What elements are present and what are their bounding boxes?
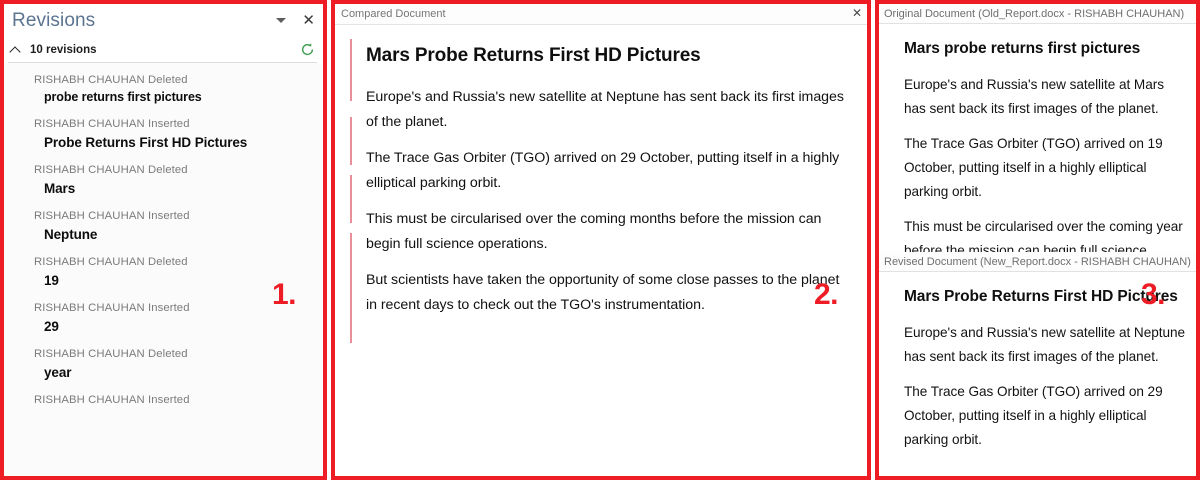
revised-document-label: Revised Document (New_Report.docx - RISH… bbox=[884, 256, 1191, 268]
source-documents-panel: Original Document (Old_Report.docx - RIS… bbox=[875, 0, 1200, 480]
revision-author: RISHABH CHAUHAN Deleted bbox=[34, 346, 313, 362]
revision-author: RISHABH CHAUHAN Inserted bbox=[34, 116, 313, 132]
revised-document-header: Revised Document (New_Report.docx - RISH… bbox=[879, 252, 1196, 272]
revision-item[interactable]: RISHABH CHAUHAN Deletedprobe returns fir… bbox=[4, 72, 323, 107]
original-paragraph: Europe's and Russia's new satellite at M… bbox=[904, 73, 1186, 121]
revised-document-body[interactable]: Mars Probe Returns First HD Pictures Eur… bbox=[879, 272, 1196, 476]
revised-document-section: Revised Document (New_Report.docx - RISH… bbox=[879, 252, 1196, 476]
compared-paragraph: This must be circularised over the comin… bbox=[366, 207, 845, 257]
revision-text: 29 bbox=[34, 316, 313, 337]
original-document-header: Original Document (Old_Report.docx - RIS… bbox=[879, 4, 1196, 24]
revision-author: RISHABH CHAUHAN Deleted bbox=[34, 72, 313, 88]
revised-paragraph: Europe's and Russia's new satellite at N… bbox=[904, 321, 1186, 369]
revision-text: year bbox=[34, 362, 313, 383]
revision-item[interactable]: RISHABH CHAUHAN InsertedProbe Returns Fi… bbox=[4, 116, 323, 153]
revision-item[interactable]: RISHABH CHAUHAN InsertedNeptune bbox=[4, 208, 323, 245]
original-paragraph: This must be circularised over the comin… bbox=[904, 215, 1186, 252]
original-paragraph-list: Europe's and Russia's new satellite at M… bbox=[904, 73, 1186, 252]
revisions-list[interactable]: RISHABH CHAUHAN Deletedprobe returns fir… bbox=[4, 63, 323, 476]
revision-text: probe returns first pictures bbox=[34, 88, 313, 107]
original-heading: Mars probe returns first pictures bbox=[904, 36, 1186, 61]
revisions-count-label: 10 revisions bbox=[30, 44, 96, 56]
original-paragraph: The Trace Gas Orbiter (TGO) arrived on 1… bbox=[904, 132, 1186, 204]
compared-document-panel: Compared Document ✕ Mars Probe Returns F… bbox=[331, 0, 871, 480]
revision-item[interactable]: RISHABH CHAUHAN DeletedMars bbox=[4, 162, 323, 199]
change-bar-rail bbox=[350, 39, 352, 468]
revised-paragraph: The Trace Gas Orbiter (TGO) arrived on 2… bbox=[904, 380, 1186, 452]
chevron-up-icon[interactable] bbox=[10, 44, 21, 55]
revision-author: RISHABH CHAUHAN Inserted bbox=[34, 300, 313, 316]
compared-document-label: Compared Document bbox=[341, 8, 446, 20]
refresh-icon[interactable] bbox=[300, 42, 315, 57]
revision-author: RISHABH CHAUHAN Inserted bbox=[34, 392, 313, 408]
revisions-count-bar: 10 revisions bbox=[4, 37, 323, 62]
compared-heading: Mars Probe Returns First HD Pictures bbox=[366, 43, 845, 69]
revisions-titlebar: Revisions ✕ bbox=[4, 4, 323, 37]
revision-item[interactable]: RISHABH CHAUHAN Deletedyear bbox=[4, 346, 323, 383]
close-icon[interactable]: ✕ bbox=[300, 13, 317, 28]
revision-item[interactable]: RISHABH CHAUHAN Deleted19 bbox=[4, 254, 323, 291]
compared-document-header: Compared Document ✕ bbox=[335, 4, 867, 25]
revision-text: Mars bbox=[34, 178, 313, 199]
close-icon[interactable]: ✕ bbox=[852, 6, 862, 20]
compared-paragraph-list: Europe's and Russia's new satellite at N… bbox=[351, 85, 845, 318]
compared-paragraph: But scientists have taken the opportunit… bbox=[366, 268, 845, 318]
revised-heading: Mars Probe Returns First HD Pictures bbox=[904, 284, 1186, 309]
page-title: Revisions bbox=[12, 10, 95, 32]
compared-paragraph: The Trace Gas Orbiter (TGO) arrived on 2… bbox=[366, 146, 845, 196]
revision-text: Probe Returns First HD Pictures bbox=[34, 132, 313, 153]
original-document-section: Original Document (Old_Report.docx - RIS… bbox=[879, 4, 1196, 252]
revised-paragraph-list: Europe's and Russia's new satellite at N… bbox=[904, 321, 1186, 452]
original-document-label: Original Document (Old_Report.docx - RIS… bbox=[884, 8, 1184, 20]
original-document-body[interactable]: Mars probe returns first pictures Europe… bbox=[879, 24, 1196, 252]
revision-author: RISHABH CHAUHAN Inserted bbox=[34, 208, 313, 224]
compared-document-body[interactable]: Mars Probe Returns First HD Pictures Eur… bbox=[335, 25, 867, 476]
revision-item[interactable]: RISHABH CHAUHAN Inserted29 bbox=[4, 300, 323, 337]
revision-item[interactable]: RISHABH CHAUHAN Inserted bbox=[4, 392, 323, 408]
revision-text: 19 bbox=[34, 270, 313, 291]
compared-paragraph: Europe's and Russia's new satellite at N… bbox=[366, 85, 845, 135]
revisions-panel: Revisions ✕ 10 revisions RISHABH CHAUHAN bbox=[0, 0, 327, 480]
chevron-down-icon[interactable] bbox=[276, 18, 286, 23]
revision-author: RISHABH CHAUHAN Deleted bbox=[34, 162, 313, 178]
compare-documents-screen: Revisions ✕ 10 revisions RISHABH CHAUHAN bbox=[0, 0, 1200, 480]
revision-text: Neptune bbox=[34, 224, 313, 245]
revision-author: RISHABH CHAUHAN Deleted bbox=[34, 254, 313, 270]
